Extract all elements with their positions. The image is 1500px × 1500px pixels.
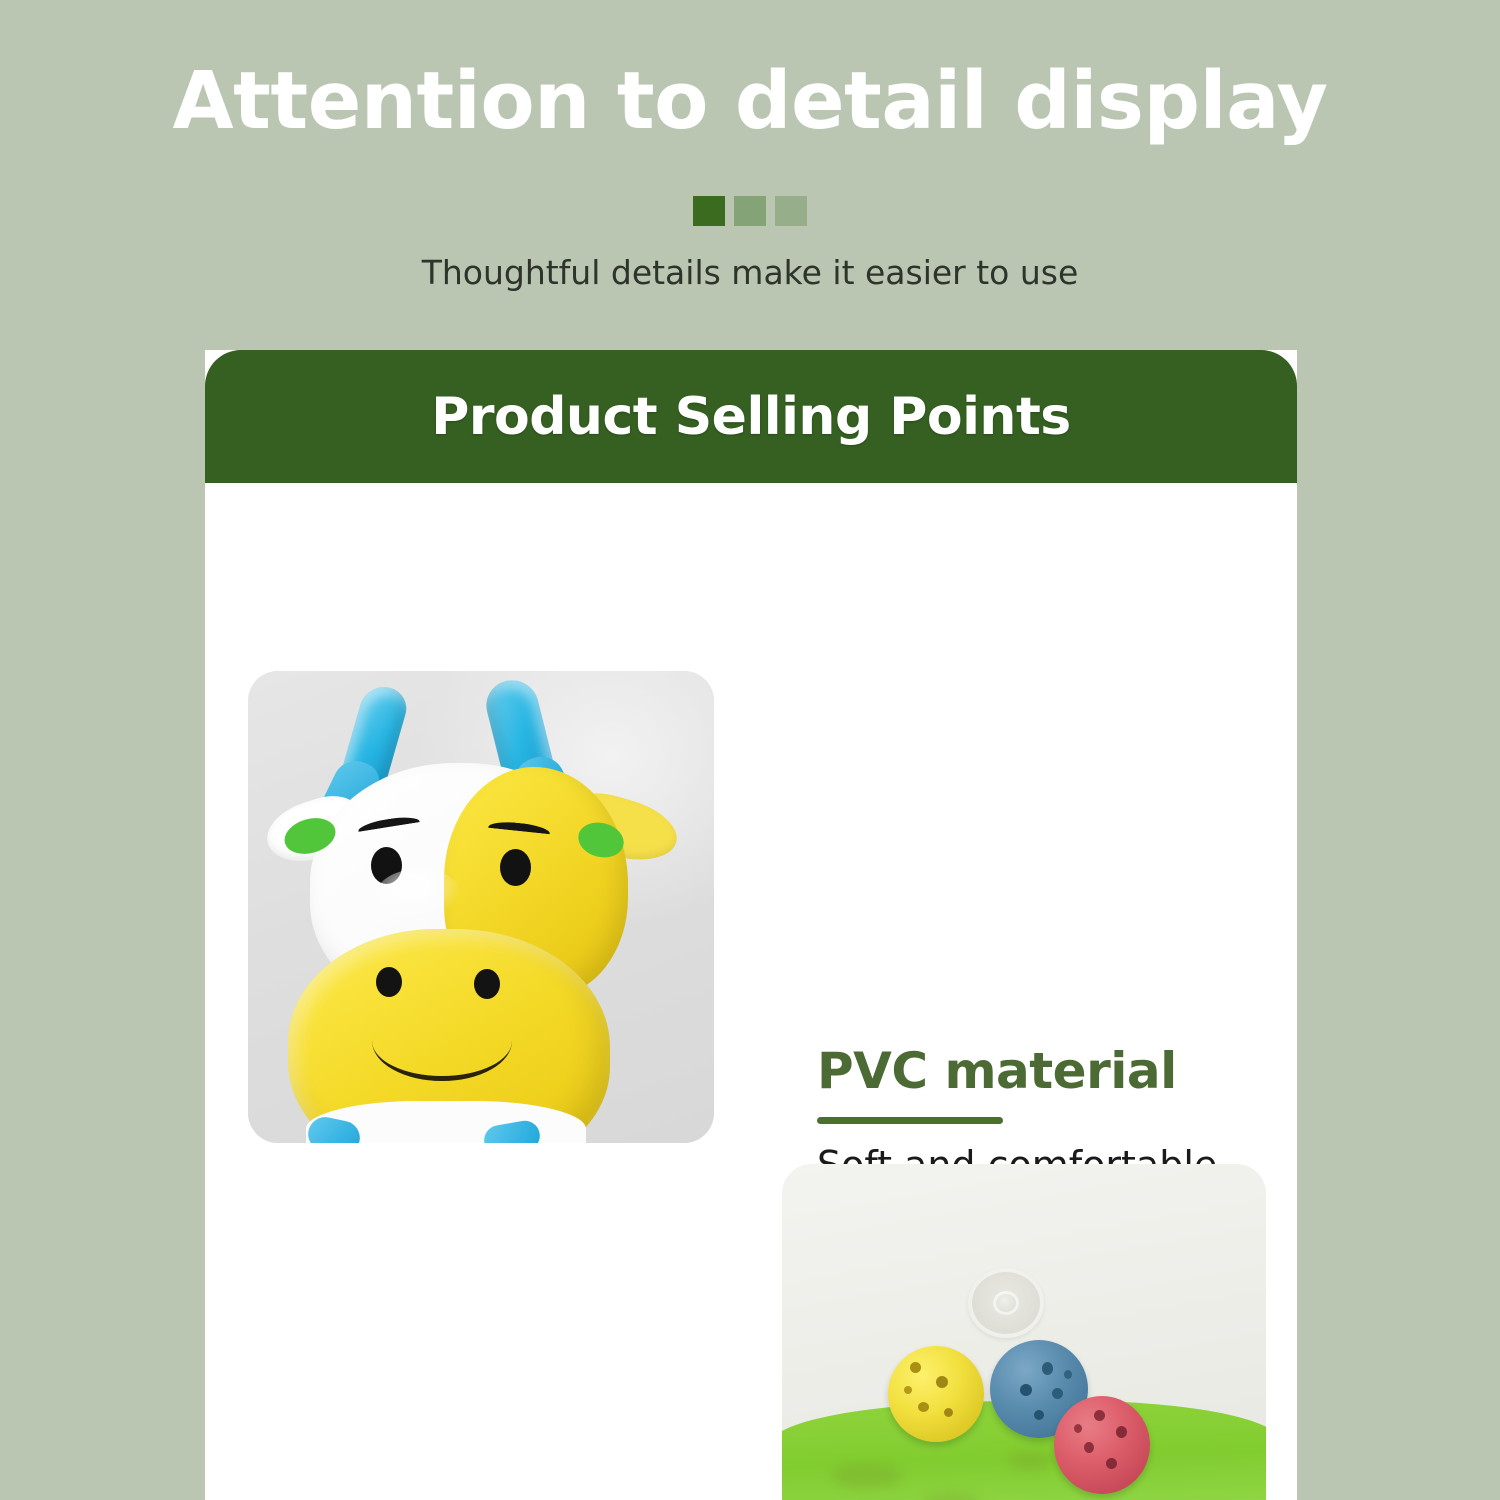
feature-title-pvc: PVC material — [817, 1045, 1217, 1098]
ball-hole — [936, 1376, 948, 1388]
rattle-ball-yellow — [888, 1346, 984, 1442]
selling-points-card: Product Selling Points — [205, 350, 1297, 1500]
surface-smudge — [922, 1493, 980, 1500]
swatch-row — [0, 196, 1500, 226]
balls-illustration — [782, 1164, 1266, 1500]
cow-illustration — [248, 671, 714, 1143]
ball-hole — [944, 1408, 953, 1417]
cow-smile-icon — [372, 1001, 512, 1081]
swatch-light — [775, 196, 807, 226]
hero-section: Attention to detail display Thoughtful d… — [0, 0, 1500, 350]
swatch-medium — [734, 196, 766, 226]
ball-hole — [1034, 1410, 1044, 1420]
ball-hole — [904, 1386, 912, 1394]
surface-smudge — [1008, 1451, 1052, 1471]
ball-hole — [918, 1402, 929, 1412]
rattle-ball-red — [1054, 1396, 1150, 1494]
page-subtitle: Thoughtful details make it easier to use — [0, 253, 1500, 292]
ball-hole — [1020, 1384, 1032, 1396]
ball-hole — [1042, 1362, 1053, 1375]
cow-nostril-left-icon — [376, 967, 402, 997]
cow-gloss-highlight — [376, 869, 462, 921]
ball-hole — [1064, 1370, 1072, 1379]
photo-rattle-balls — [782, 1164, 1266, 1500]
cow-eye-right-icon — [500, 849, 531, 886]
card-header-title: Product Selling Points — [431, 387, 1071, 447]
air-valve-icon — [968, 1268, 1044, 1338]
card-body: PVC material Soft and comfortable Built-… — [205, 483, 1297, 1500]
ball-hole — [1052, 1388, 1063, 1399]
ball-hole — [1084, 1442, 1094, 1453]
swatch-dark — [693, 196, 725, 226]
cow-nostril-right-icon — [474, 969, 500, 999]
photo-cow-toy — [248, 671, 714, 1143]
ball-hole — [1094, 1410, 1105, 1421]
page-title: Attention to detail display — [0, 62, 1500, 141]
ball-hole — [1116, 1426, 1127, 1438]
card-header: Product Selling Points — [205, 350, 1297, 483]
ball-hole — [910, 1362, 921, 1373]
ball-hole — [1074, 1424, 1082, 1433]
ball-hole — [1106, 1458, 1117, 1469]
surface-smudge — [832, 1463, 902, 1489]
feature-rule-pvc — [817, 1117, 1003, 1124]
